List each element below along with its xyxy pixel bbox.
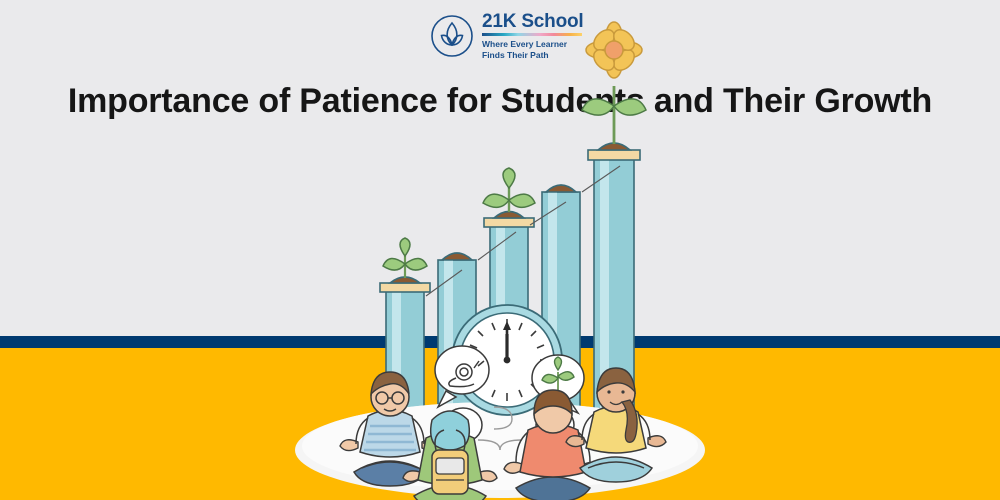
bar-1-plant [383, 238, 427, 278]
logo-text-block: 21K School Where Every Learner Finds The… [482, 12, 583, 60]
patience-growth-illustration: ? ? [250, 120, 750, 500]
blog-banner: 21K School Where Every Learner Finds The… [0, 0, 1000, 500]
logo-tagline-line2: Finds Their Path [482, 50, 549, 60]
bar-3-plant [483, 168, 535, 212]
brand-logo[interactable]: 21K School Where Every Learner Finds The… [430, 12, 583, 60]
logo-tagline: Where Every Learner Finds Their Path [482, 39, 583, 60]
page-title: Importance of Patience for Students and … [0, 82, 1000, 121]
logo-tagline-line1: Where Every Learner [482, 39, 567, 49]
hijab [431, 411, 470, 450]
clock-center-pin [504, 357, 511, 364]
logo-name: 21K School [482, 12, 583, 31]
lotus-circle-icon [430, 14, 474, 58]
backpack-pocket [436, 458, 464, 474]
logo-gradient-rule [482, 33, 582, 36]
